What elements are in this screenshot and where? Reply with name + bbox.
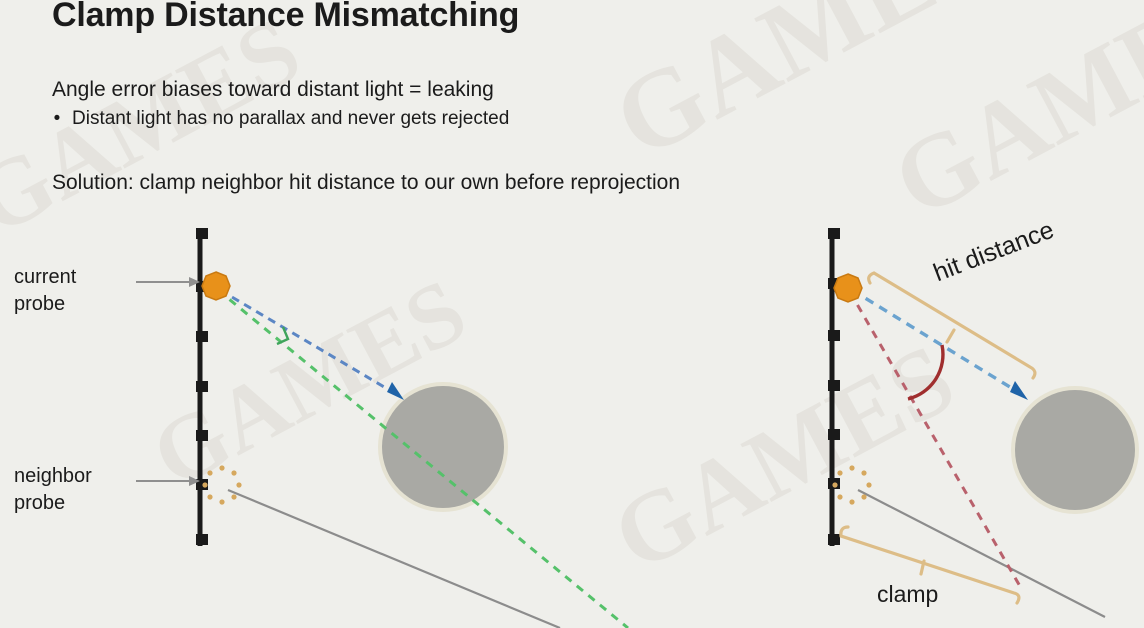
- blue-ray-arrowhead: [1010, 381, 1028, 400]
- hit-distance-bracket-tick: [947, 330, 954, 342]
- neighbor-probe-label: neighbor probe: [14, 463, 92, 517]
- wall-tick: [828, 330, 840, 341]
- current-probe-label: current probe: [14, 264, 76, 318]
- occluder-circle: [382, 386, 504, 508]
- current-probe-marker: [834, 274, 862, 302]
- clamp-label: clamp: [877, 581, 938, 608]
- neighbor-probe-label-line1: neighbor: [14, 463, 92, 490]
- occluder-circle: [1015, 390, 1135, 510]
- neighbor-probe-gray-ray: [228, 490, 560, 628]
- current-probe-label-line2: probe: [14, 291, 76, 318]
- blue-hit-distance-ray: [852, 290, 1018, 392]
- wall-tick: [196, 331, 208, 342]
- hit-distance-bracket: [869, 273, 1035, 378]
- wall-tick: [828, 534, 840, 545]
- current-probe-marker: [202, 272, 230, 300]
- neighbor-probe-label-line2: probe: [14, 490, 92, 517]
- blue-probe-ray: [220, 290, 396, 394]
- wall-tick: [828, 380, 840, 391]
- neighbor-probe-marker: [202, 465, 241, 504]
- blue-ray-arrowhead: [387, 382, 404, 400]
- right-diagram: [828, 228, 1139, 617]
- wall-tick: [828, 228, 840, 239]
- wall-tick: [196, 228, 208, 239]
- wall-tick: [196, 381, 208, 392]
- wall-tick: [828, 429, 840, 440]
- diagram-figure: [0, 0, 1144, 628]
- left-diagram: [136, 228, 628, 628]
- red-clamped-ray: [850, 292, 1021, 588]
- wall-tick: [196, 430, 208, 441]
- angle-arc-indicator: [908, 345, 943, 399]
- current-probe-label-line1: current: [14, 264, 76, 291]
- slide-canvas: GAMES GAMES GAMES GAMES GAMES Clamp Dist…: [0, 0, 1144, 628]
- wall-tick: [196, 534, 208, 545]
